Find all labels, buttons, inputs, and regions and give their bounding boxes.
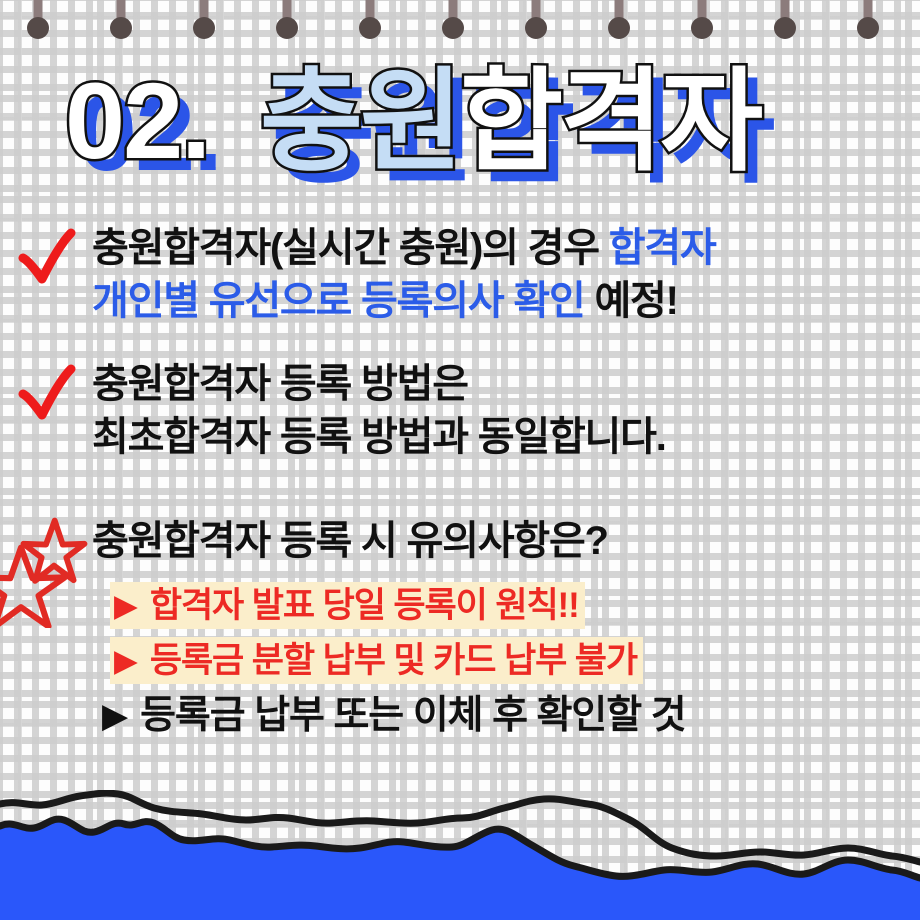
check-block-2-lines: 충원합격자 등록 방법은 최초합격자 등록 방법과 동일합니다.	[92, 358, 920, 464]
binding-ring-tip	[27, 17, 879, 39]
notice-item: ▶ 등록금 분할 납부 및 카드 납부 불가	[110, 637, 643, 684]
check-mark-icon	[15, 228, 77, 290]
poster-canvas: 02. 충원합격자 02. 충원합격자 충원합격자(실시간 충원)의 경우 합격…	[0, 0, 920, 920]
spiral-binding	[0, 0, 920, 46]
notice-item-list: ▶ 합격자 발표 당일 등록이 원칙!! ▶ 등록금 분할 납부 및 카드 납부…	[110, 582, 920, 739]
check-mark-cell	[0, 358, 92, 426]
notice-lines: 충원합격자 등록 시 유의사항은? ▶ 합격자 발표 당일 등록이 원칙!! ▶…	[92, 516, 920, 747]
check-block-2: 충원합격자 등록 방법은 최초합격자 등록 방법과 동일합니다.	[0, 358, 920, 464]
text-span: 예정!	[585, 279, 678, 323]
title-main-part-white: 합격자	[460, 62, 762, 184]
check-block-1-lines: 충원합격자(실시간 충원)의 경우 합격자 개인별 유선으로 등록의사 확인 예…	[92, 222, 920, 328]
star-mark-cell	[0, 516, 92, 628]
double-star-icon	[0, 510, 92, 628]
content-area: 충원합격자(실시간 충원)의 경우 합격자 개인별 유선으로 등록의사 확인 예…	[0, 222, 920, 747]
text-line: 최초합격자 등록 방법과 동일합니다.	[92, 411, 920, 464]
notice-item-label: 등록금 분할 납부 및 카드 납부 불가	[150, 643, 643, 678]
star-large	[0, 548, 65, 627]
arrow-right-icon: ▶	[110, 645, 138, 676]
page-title: 02. 충원합격자 02. 충원합격자	[0, 62, 920, 190]
bottom-wave-decoration	[0, 790, 920, 920]
notice-item: ▶ 등록금 납부 또는 이체 후 확인할 것	[98, 692, 692, 739]
title-main-part-filled: 충원	[260, 62, 460, 184]
arrow-right-icon: ▶	[110, 590, 138, 621]
title-main: 충원합격자	[260, 62, 762, 184]
title-artwork: 02. 충원합격자 02. 충원합격자	[65, 62, 855, 190]
notice-item-label: 합격자 발표 당일 등록이 원칙!!	[150, 588, 585, 623]
text-line: 충원합격자(실시간 충원)의 경우 합격자	[92, 222, 920, 275]
text-span: 충원합격자(실시간 충원)의 경우	[92, 226, 609, 270]
text-span: 합격자	[609, 226, 716, 270]
notice-block: 충원합격자 등록 시 유의사항은? ▶ 합격자 발표 당일 등록이 원칙!! ▶…	[0, 516, 920, 747]
text-span: 개인별 유선으로 등록의사 확인	[92, 279, 585, 323]
check-block-1: 충원합격자(실시간 충원)의 경우 합격자 개인별 유선으로 등록의사 확인 예…	[0, 222, 920, 328]
text-line: 충원합격자 등록 방법은	[92, 358, 920, 411]
notice-heading: 충원합격자 등록 시 유의사항은?	[92, 516, 920, 566]
text-line: 개인별 유선으로 등록의사 확인 예정!	[92, 275, 920, 328]
check-mark-cell	[0, 222, 92, 290]
check-mark-icon	[15, 364, 77, 426]
title-number: 02.	[65, 62, 209, 181]
arrow-right-icon: ▶	[98, 699, 128, 733]
notice-item: ▶ 합격자 발표 당일 등록이 원칙!!	[110, 582, 585, 629]
notice-item-label: 등록금 납부 또는 이체 후 확인할 것	[140, 696, 691, 735]
